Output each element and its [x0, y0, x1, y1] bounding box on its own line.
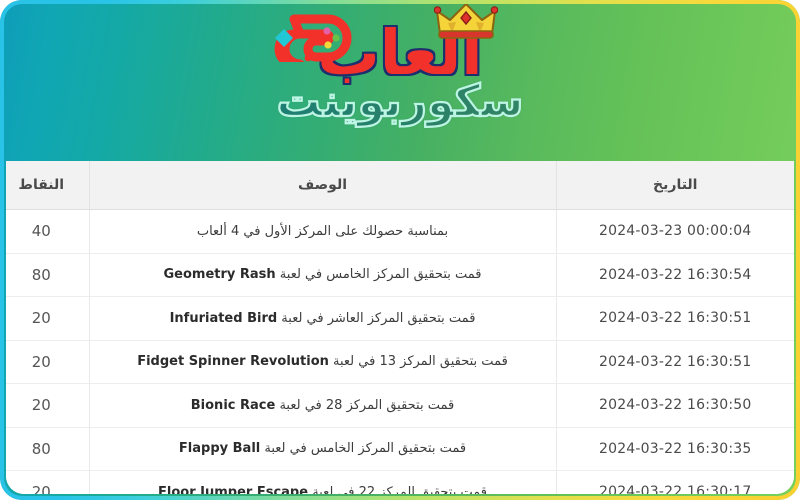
column-header-date[interactable]: التاريخ: [556, 161, 794, 210]
cell-points: 80: [6, 253, 89, 297]
table-row[interactable]: 16:30:51 2024-03-22قمت بتحقيق المركز 13 …: [6, 340, 794, 384]
site-header: العاب سكوربوينت: [0, 0, 800, 160]
cell-points: 20: [6, 297, 89, 341]
table-head: التاريخ الوصف النقاط: [6, 161, 794, 210]
cell-description: قمت بتحقيق المركز الخامس في لعبة Geometr…: [89, 253, 556, 297]
cell-date: 16:30:50 2024-03-22: [556, 384, 794, 428]
gamepad-icon: [268, 14, 360, 62]
cell-points: 20: [6, 384, 89, 428]
table-row[interactable]: 16:30:51 2024-03-22قمت بتحقيق المركز الع…: [6, 297, 794, 341]
cell-description: قمت بتحقيق المركز 22 في لعبة Floor Jumpe…: [89, 471, 556, 495]
cell-description: قمت بتحقيق المركز 28 في لعبة Bionic Race: [89, 384, 556, 428]
game-title: Floor Jumper Escape: [158, 485, 308, 494]
cell-points: 80: [6, 427, 89, 471]
cell-date: 16:30:54 2024-03-22: [556, 253, 794, 297]
site-logo[interactable]: العاب سكوربوينت: [250, 2, 550, 124]
cell-date: 16:30:17 2024-03-22: [556, 471, 794, 495]
activity-table-container: التاريخ الوصف النقاط 00:00:04 2024-03-23…: [6, 161, 794, 494]
table-body: 00:00:04 2024-03-23بمناسبة حصولك على الم…: [6, 210, 794, 495]
column-header-points[interactable]: النقاط: [6, 161, 89, 210]
game-title: Flappy Ball: [179, 441, 260, 456]
crown-icon: [434, 0, 498, 40]
table-row[interactable]: 16:30:17 2024-03-22قمت بتحقيق المركز 22 …: [6, 471, 794, 495]
table-header-row: التاريخ الوصف النقاط: [6, 161, 794, 210]
column-header-description[interactable]: الوصف: [89, 161, 556, 210]
cell-description: قمت بتحقيق المركز العاشر في لعبة Infuria…: [89, 297, 556, 341]
cell-points: 20: [6, 471, 89, 495]
cell-description: بمناسبة حصولك على المركز الأول في 4 ألعا…: [89, 210, 556, 254]
cell-date: 16:30:35 2024-03-22: [556, 427, 794, 471]
table-row[interactable]: 00:00:04 2024-03-23بمناسبة حصولك على الم…: [6, 210, 794, 254]
game-title: Infuriated Bird: [170, 311, 278, 326]
table-row[interactable]: 16:30:54 2024-03-22قمت بتحقيق المركز الخ…: [6, 253, 794, 297]
cell-points: 40: [6, 210, 89, 254]
game-title: Bionic Race: [191, 398, 276, 413]
table-row[interactable]: 16:30:35 2024-03-22قمت بتحقيق المركز الخ…: [6, 427, 794, 471]
cell-description: قمت بتحقيق المركز 13 في لعبة Fidget Spin…: [89, 340, 556, 384]
cell-points: 20: [6, 340, 89, 384]
cell-description: قمت بتحقيق المركز الخامس في لعبة Flappy …: [89, 427, 556, 471]
cell-date: 00:00:04 2024-03-23: [556, 210, 794, 254]
logo-sub-text: سكوربوينت: [250, 80, 550, 124]
table-row[interactable]: 16:30:50 2024-03-22قمت بتحقيق المركز 28 …: [6, 384, 794, 428]
cell-date: 16:30:51 2024-03-22: [556, 340, 794, 384]
game-title: Fidget Spinner Revolution: [137, 354, 329, 369]
page-root: العاب سكوربوينت التاريخ الوصف: [0, 0, 800, 500]
cell-date: 16:30:51 2024-03-22: [556, 297, 794, 341]
activity-table: التاريخ الوصف النقاط 00:00:04 2024-03-23…: [6, 161, 794, 494]
game-title: Geometry Rash: [163, 267, 275, 282]
